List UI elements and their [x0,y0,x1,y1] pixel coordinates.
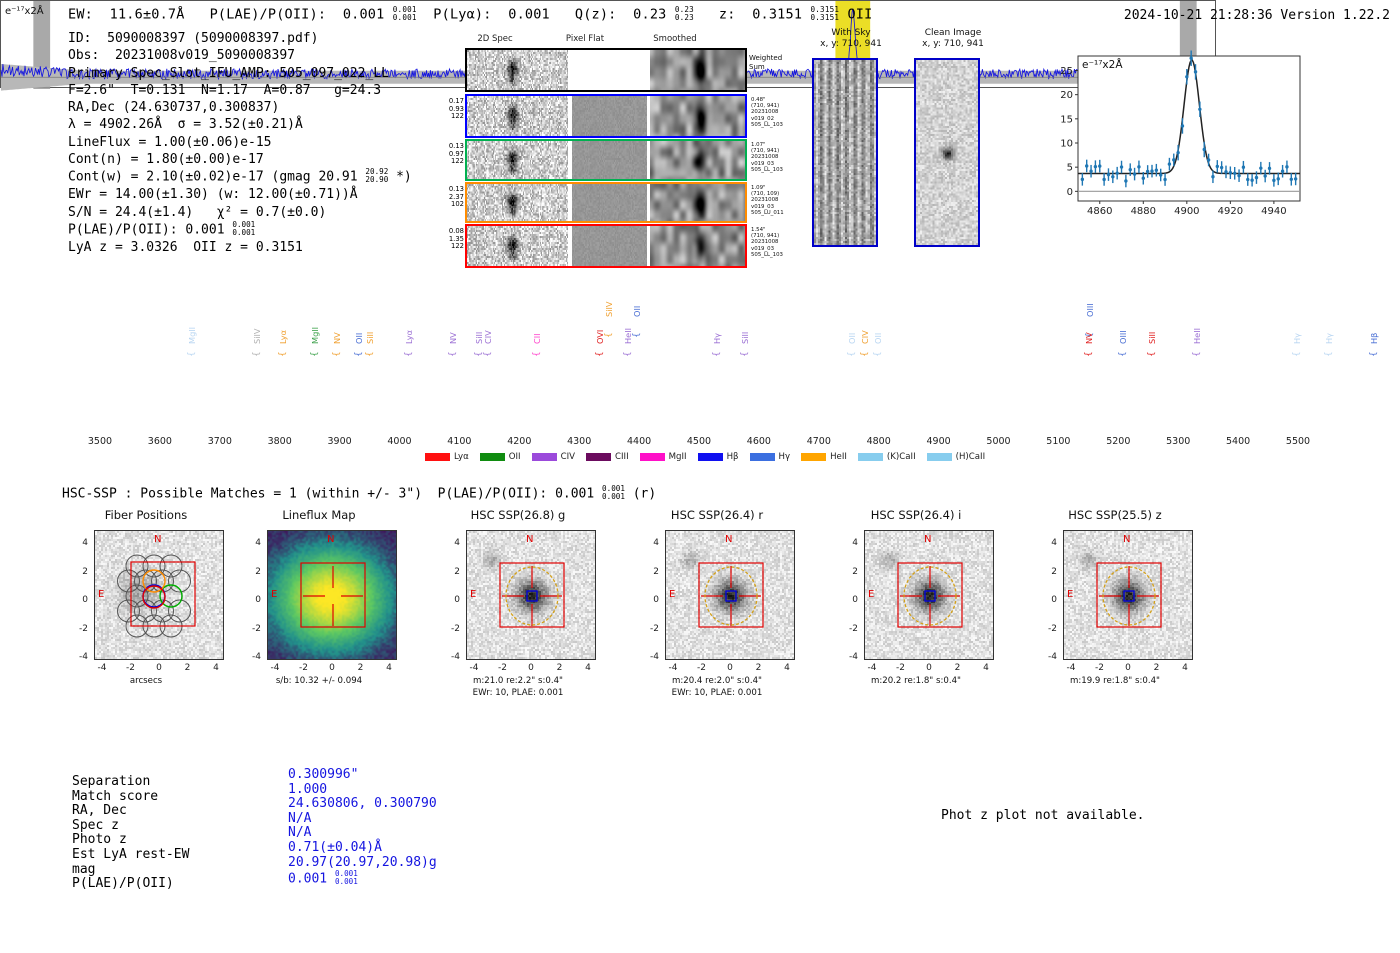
emission-line-label: OIII [1118,330,1128,344]
emission-line-bracket: { [187,351,197,357]
spectrum-tick-label: 5200 [1098,436,1138,447]
emission-line-bracket: { [1324,351,1334,357]
cutout-caption-primary: m:20.4 re:2.0" s:0.4" [633,676,801,687]
emission-line-label: Lyα [404,330,414,344]
cutout-y-tick: 2 [66,567,88,577]
cutout-x-tick: 2 [353,663,369,673]
legend-item: HeII [801,452,847,462]
cutout-image [1063,530,1193,660]
legend-swatch [858,453,883,461]
cutout-y-tick: 0 [438,595,460,605]
spec-panel-row: 0.081.351221.54"(710, 941)20231008v019_0… [465,224,747,268]
cutout-x-tick: -4 [864,663,880,673]
emission-line-label: CII [532,333,542,344]
cutout-y-tick: 4 [438,538,460,548]
spec-row-left-stats: 0.081.35122 [437,228,464,251]
east-marker: E [868,589,874,600]
svg-text:4860: 4860 [1087,206,1112,217]
match-table-label: RA, Dec [72,804,189,819]
cutout-y-tick: 2 [1035,567,1057,577]
header-summary-line: EW: 11.6±0.7Å P(LAE)/P(OII): 0.001 0.001… [68,6,872,23]
spec-panel-row: 0.170.931220.48"(710, 941)20231008v019_0… [465,94,747,138]
match-table-label: Match score [72,790,189,805]
info-lambda-sigma: λ = 4902.26Å σ = 3.52(±0.21)Å [68,116,412,133]
cutout-x-tick: 2 [1149,663,1165,673]
cutout-caption-secondary: EWr: 10, PLAE: 0.001 [434,688,602,699]
cutout-header: Clean Imagex, y: 710, 941 [908,28,998,50]
cutout-x-tick: 2 [180,663,196,673]
legend-item: (H)CaII [927,452,986,462]
cutout-y-tick: -2 [66,624,88,634]
match-table-label: mag [72,863,189,878]
legend-swatch [586,453,611,461]
north-marker: N [924,534,931,545]
legend-item: (K)CaII [858,452,916,462]
cutout-panel-title: Lineflux Map [235,508,403,522]
info-primary-spec: Primary Spec_Slot_IFU_AMP: 505_097_022_L… [68,65,412,82]
header-summary-prefix: EW: 11.6±0.7Å P(LAE)/P(OII): 0.001 [68,7,393,23]
legend-item: Lyα [425,452,469,462]
emission-line-bracket: { [354,351,364,357]
emission-line-bracket: { [604,332,614,338]
emission-line-bracket: { [252,351,262,357]
spectrum-tick-label: 3700 [200,436,240,447]
header-summary-z: z: 0.3151 [694,7,811,23]
legend-swatch [750,453,775,461]
emission-line-bracket: { [310,351,320,357]
legend-label: HeII [830,452,847,462]
spectrum-tick-label: 5400 [1218,436,1258,447]
cutout-x-tick: 2 [751,663,767,673]
emission-line-bracket: { [595,351,605,357]
info-obs: Obs: 20231008v019_5090008397 [68,47,412,64]
timestamp-version: 2024-10-21 21:28:36 Version 1.22.2 [1124,8,1390,23]
cutout-panel-title: Fiber Positions [62,508,230,522]
cutout-y-tick: -4 [836,652,858,662]
legend-swatch [480,453,505,461]
spec-row-meta: 0.48"(710, 941)20231008v019_02505_LL_103 [751,97,797,128]
match-table-value: 1.000 [288,783,437,798]
north-marker: N [1123,534,1130,545]
cutout-y-tick: -2 [836,624,858,634]
cutout-y-tick: 4 [637,538,659,548]
match-table-label: Est LyA rest-EW [72,848,189,863]
legend-item: CIII [586,452,629,462]
legend-label: OII [509,452,521,462]
cutout-title: Clean Image [908,28,998,39]
cutout-header: With Skyx, y: 710, 941 [806,28,896,50]
emission-line-bracket: { [448,351,458,357]
spectrum-tick-label: 5300 [1158,436,1198,447]
cutout-x-tick: 0 [523,663,539,673]
legend-item: MgII [640,452,687,462]
match-table-label: P(LAE)/P(OII) [72,877,189,892]
cutout-y-tick: 2 [836,567,858,577]
object-info-block: ID: 5090008397 (5090008397.pdf) Obs: 202… [68,30,412,256]
cutout-x-tick: 2 [552,663,568,673]
photz-message: Phot z plot not available. [941,808,1145,823]
emission-line-bracket: { [873,351,883,357]
spectrum-tick-label: 4000 [379,436,419,447]
legend-label: CIII [615,452,629,462]
emission-line-label: CIV [483,330,493,344]
spec-row-left-stats: 0.170.93122 [437,98,464,121]
cutout-image [665,530,795,660]
cutout-y-tick: 4 [836,538,858,548]
cutout-x-tick: 0 [324,663,340,673]
emission-line-bracket: { [623,351,633,357]
spec-panel-row: 0.132.371021.09"(710, 109)20231008v019_0… [465,182,747,223]
cutout-y-tick: -2 [637,624,659,634]
cutout-x-tick: -2 [296,663,312,673]
emission-line-label: OII [354,333,364,344]
info-id: ID: 5090008397 (5090008397.pdf) [68,30,412,47]
svg-text:5: 5 [1067,163,1073,174]
cutout-x-tick: 4 [1177,663,1193,673]
spectrum-x-ticks: 3500360037003800390040004100420043004400… [88,434,1304,454]
east-marker: E [669,589,675,600]
cutout-caption-primary: m:21.0 re:2.2" s:0.4" [434,676,602,687]
east-marker: E [98,589,104,600]
cutout-y-tick: -4 [1035,652,1057,662]
emission-line-bracket: { [1369,351,1379,357]
emission-line-label: OII [632,306,642,317]
legend-item: CIV [532,452,575,462]
cutout-y-tick: -4 [239,652,261,662]
info-seeing: F=2.6" T=0.131 N=1.17 A=0.87 g=24.3 [68,82,412,99]
match-table-labels: SeparationMatch scoreRA, DecSpec zPhoto … [72,775,189,892]
north-marker: N [327,534,334,545]
info-ewr: EWr = 14.00(±1.30) (w: 12.00(±0.71))Å [68,186,412,203]
cutout-y-tick: 2 [239,567,261,577]
header-summary-tail: OII [839,7,872,23]
match-table-value: 24.630806, 0.300790 [288,797,437,812]
spec-row-meta: 1.54"(710, 941)20231008v019_03505_LL_103 [751,227,797,258]
legend-swatch [640,453,665,461]
cutout-y-tick: 0 [836,595,858,605]
line-fit-plot: 051015202548604880490049204940e⁻¹⁷x2Å [1038,48,1306,233]
match-table-value: 0.001 0.0010.001 [288,870,437,887]
cutout-y-tick: -2 [438,624,460,634]
emission-line-labels: MgII{SiIV{Lyα{MgII{NV{OII{SiII{Lyα{NV{CI… [88,272,1304,346]
spectrum-tick-label: 4700 [799,436,839,447]
spectrum-tick-label: 3800 [260,436,300,447]
svg-text:4920: 4920 [1218,206,1243,217]
cutout-x-tick: -4 [94,663,110,673]
emission-line-bracket: { [712,351,722,357]
svg-text:0: 0 [1067,187,1073,198]
cutout-y-tick: 4 [1035,538,1057,548]
emission-line-label: Hβ [1369,333,1379,344]
spectrum-tick-label: 4500 [679,436,719,447]
emission-line-label: HeII [1192,328,1202,344]
legend-label: Hβ [727,452,739,462]
emission-line-bracket: { [365,351,375,357]
spec-panel-title: 2D Spec [473,34,517,44]
info-redshifts: LyA z = 3.0326 OII z = 0.3151 [68,239,412,256]
plae-fraction: 0.0010.001 [393,6,417,21]
spectrum-tick-label: 4100 [439,436,479,447]
svg-text:20: 20 [1060,90,1073,101]
cutout-x-tick: 0 [1120,663,1136,673]
svg-text:4900: 4900 [1174,206,1199,217]
cutout-x-tick: -4 [1063,663,1079,673]
cutout-panel-title: HSC SSP(26.8) g [434,508,602,522]
emission-line-label: NV [1084,332,1094,344]
emission-line-bracket: { [632,332,642,338]
emission-line-bracket: { [1292,351,1302,357]
emission-line-bracket: { [1118,351,1128,357]
spectrum-tick-label: 3600 [140,436,180,447]
cutout-x-tick: 4 [208,663,224,673]
cutout-y-tick: -2 [1035,624,1057,634]
legend-swatch [532,453,557,461]
emission-line-label: OIII [1085,303,1095,317]
emission-line-bracket: { [860,351,870,357]
svg-text:e⁻¹⁷x2Å: e⁻¹⁷x2Å [1082,58,1123,71]
svg-text:15: 15 [1060,114,1073,125]
cutout-y-tick: 0 [637,595,659,605]
emission-line-label: CIV [860,330,870,344]
match-table-value: 0.300996" [288,768,437,783]
spectrum-tick-label: 5100 [1038,436,1078,447]
legend-label: Lyα [454,452,469,462]
spectrum-tick-label: 4600 [739,436,779,447]
legend-label: Hγ [779,452,791,462]
cutout-x-tick: -4 [466,663,482,673]
match-table-values: 0.300996"1.00024.630806, 0.300790N/AN/A0… [288,768,437,887]
info-cont-n: Cont(n) = 1.80(±0.00)e-17 [68,151,412,168]
emission-line-label: SiII [474,332,484,344]
legend-label: (K)CaII [887,452,916,462]
emission-line-label: NV [332,332,342,344]
emission-line-label: SiIV [252,329,262,345]
info-radec: RA,Dec (24.630737,0.300837) [68,99,412,116]
spectrum-tick-label: 4800 [859,436,899,447]
cutout-x-tick: 0 [722,663,738,673]
emission-line-bracket: { [278,351,288,357]
spec-panel-title: Smoothed [653,34,697,44]
match-table-value: 20.97(20.97,20.98)g [288,856,437,871]
cutout-image [267,530,397,660]
cutout-x-tick: 4 [978,663,994,673]
cutout-y-tick: -2 [239,624,261,634]
cutout-caption-secondary: EWr: 10, PLAE: 0.001 [633,688,801,699]
cutout-panel-title: HSC SSP(25.5) z [1031,508,1199,522]
emission-line-label: MgII [187,327,197,344]
cutout-caption-primary: s/b: 10.32 +/- 0.094 [235,676,403,687]
legend-item: Hβ [698,452,739,462]
emission-line-label: MgII [310,327,320,344]
emission-line-bracket: { [1192,351,1202,357]
spectrum-tick-label: 4900 [919,436,959,447]
cutout-image [466,530,596,660]
cutout-y-tick: 2 [438,567,460,577]
header-summary-mid: P(Lyα): 0.001 Q(z): 0.23 [417,7,675,23]
cutout-x-tick: -2 [123,663,139,673]
spec-row-left-stats: 0.132.37102 [437,186,464,209]
cutout-x-tick: 2 [950,663,966,673]
cutout-caption-primary: m:19.9 re:1.8" s:0.4" [1031,676,1199,687]
cutout-y-tick: 2 [637,567,659,577]
match-table-value: N/A [288,812,437,827]
east-marker: E [1067,589,1073,600]
info-lineflux: LineFlux = 1.00(±0.06)e-15 [68,134,412,151]
z-fraction: 0.31510.3151 [811,6,840,21]
cutout-y-tick: -4 [66,652,88,662]
hsc-ssp-header: HSC-SSP : Possible Matches = 1 (within +… [62,485,656,502]
cutout-x-tick: 0 [151,663,167,673]
cutout-x-tick: -2 [1092,663,1108,673]
legend-swatch [698,453,723,461]
legend-item: Hγ [750,452,791,462]
weighted-sum-label: Weighted Sum [749,54,789,72]
emission-line-label: SiII [365,332,375,344]
cutout-x-tick: -2 [495,663,511,673]
emission-line-label: NV [448,332,458,344]
svg-text:4940: 4940 [1261,206,1286,217]
with-sky-image [812,58,878,247]
spec-row-meta: 1.07"(710, 941)20231008v019_03505_LL_103 [751,142,797,173]
match-table-label: Separation [72,775,189,790]
spectrum-tick-label: 5500 [1278,436,1318,447]
emission-line-bracket: { [532,351,542,357]
cutout-x-tick: -2 [893,663,909,673]
cutout-image [94,530,224,660]
cutout-y-tick: 0 [66,595,88,605]
north-marker: N [526,534,533,545]
svg-text:e⁻¹⁷x2Å: e⁻¹⁷x2Å [5,4,44,17]
east-marker: E [470,589,476,600]
spectrum-tick-label: 4400 [619,436,659,447]
spec-row-meta: 1.09"(710, 109)20231008v019_03505_LU_011 [751,185,797,216]
emission-line-bracket: { [483,351,493,357]
emission-line-bracket: { [1147,351,1157,357]
svg-text:4880: 4880 [1131,206,1156,217]
cutout-x-tick: -4 [267,663,283,673]
cutout-x-tick: 4 [580,663,596,673]
cutout-y-tick: -4 [438,652,460,662]
cutout-y-tick: 4 [66,538,88,548]
spectrum-tick-label: 5000 [979,436,1019,447]
cutout-x-tick: 4 [779,663,795,673]
spec-panel-title: Pixel Flat [563,34,607,44]
cutout-x-tick: 4 [381,663,397,673]
emission-line-label: Hγ [1324,333,1334,344]
emission-line-bracket: { [847,351,857,357]
cutout-grid: Fiber PositionsNE-4-4-2-2002244arcsecsLi… [0,508,1400,748]
emission-line-label: Lyα [278,330,288,344]
cutout-panel-title: HSC SSP(26.4) i [832,508,1000,522]
info-cont-w: Cont(w) = 2.10(±0.02)e-17 (gmag 20.91 20… [68,168,412,186]
spec-panel-row: 0.130.971221.07"(710, 941)20231008v019_0… [465,139,747,181]
emission-line-label: SiII [1147,332,1157,344]
cutout-y-tick: 4 [239,538,261,548]
qz-fraction: 0.230.23 [675,6,694,21]
spectrum-tick-label: 4300 [559,436,599,447]
emission-line-bracket: { [332,351,342,357]
emission-line-label: Hγ [1292,333,1302,344]
svg-text:25: 25 [1060,66,1073,77]
spectrum-legend: LyαOIICIVCIIIMgIIHβHγHeII(K)CaII(H)CaII [425,452,996,462]
legend-label: CIV [561,452,575,462]
north-marker: N [154,534,161,545]
emission-line-bracket: { [740,351,750,357]
cutout-x-tick: 0 [921,663,937,673]
spectrum-tick-label: 3900 [320,436,360,447]
emission-line-bracket: { [1084,351,1094,357]
legend-label: MgII [669,452,687,462]
emission-line-bracket: { [404,351,414,357]
emission-line-label: SiII [740,332,750,344]
cutout-caption-primary: arcsecs [62,676,230,687]
match-table-value: N/A [288,826,437,841]
clean-image [914,58,980,247]
legend-swatch [927,453,952,461]
cutout-title: With Sky [806,28,896,39]
legend-swatch [801,453,826,461]
emission-line-label: OII [873,333,883,344]
spectrum-tick-label: 4200 [499,436,539,447]
emission-line-bracket: { [474,351,484,357]
match-table-label: Photo z [72,833,189,848]
cutout-y-tick: 0 [1035,595,1057,605]
legend-item: OII [480,452,521,462]
two-d-spec-panels: 2D SpecPixel FlatSmoothed0.170.931220.48… [435,34,765,249]
emission-line-label: Hγ [712,333,722,344]
spec-panel-row [465,48,747,92]
cutout-x-tick: -4 [665,663,681,673]
cutout-xy: x, y: 710, 941 [806,39,896,50]
cutout-panel-title: HSC SSP(26.4) r [633,508,801,522]
cutout-y-tick: 0 [239,595,261,605]
sky-clean-cutouts: With Skyx, y: 710, 941Clean Imagex, y: 7… [820,28,1020,253]
cutout-caption-primary: m:20.2 re:1.8" s:0.4" [832,676,1000,687]
match-table-value: 0.71(±0.04)Å [288,841,437,856]
north-marker: N [725,534,732,545]
east-marker: E [271,589,277,600]
emission-line-label: SiIV [604,302,614,318]
cutout-xy: x, y: 710, 941 [908,39,998,50]
legend-swatch [425,453,450,461]
legend-label: (H)CaII [956,452,986,462]
cutout-image [864,530,994,660]
match-table-label: Spec z [72,819,189,834]
cutout-x-tick: -2 [694,663,710,673]
cutout-y-tick: -4 [637,652,659,662]
emission-line-label: OII [847,333,857,344]
info-plae: P(LAE)/P(OII): 0.001 0.0010.001 [68,221,412,239]
svg-text:10: 10 [1060,139,1073,150]
spec-row-left-stats: 0.130.97122 [437,143,464,166]
info-sn-chi2: S/N = 24.4(±1.4) χ² = 0.7(±0.0) [68,204,412,221]
spectrum-tick-label: 3500 [80,436,120,447]
